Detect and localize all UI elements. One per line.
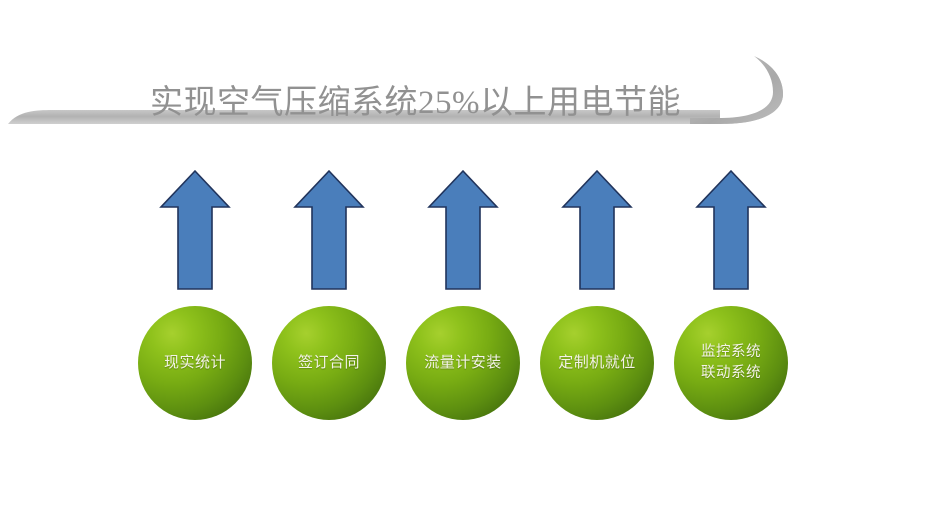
flow-step-1[interactable]: 现实统计 [136, 168, 254, 428]
up-arrow-icon [560, 168, 634, 292]
up-arrow-icon [292, 168, 366, 292]
process-flow: 现实统计 签订合同 流量计安装 [0, 0, 945, 529]
flow-step-4[interactable]: 定制机就位 [538, 168, 656, 428]
step-label-3: 流量计安装 [424, 353, 502, 373]
flow-step-2[interactable]: 签订合同 [270, 168, 388, 428]
step-label-4: 定制机就位 [558, 353, 636, 373]
step-label-2: 签订合同 [298, 353, 360, 373]
up-arrow-icon [426, 168, 500, 292]
flow-step-3[interactable]: 流量计安装 [404, 168, 522, 428]
step-circle-5[interactable]: 监控系统 联动系统 [674, 306, 788, 420]
step-circle-4[interactable]: 定制机就位 [540, 306, 654, 420]
step-label-1: 现实统计 [164, 353, 226, 373]
slide-canvas: 实现空气压缩系统25%以上用电节能 现实统计 签订合同 [0, 0, 945, 529]
step-label-5: 监控系统 联动系统 [701, 342, 761, 384]
up-arrow-icon [694, 168, 768, 292]
up-arrow-icon [158, 168, 232, 292]
step-circle-3[interactable]: 流量计安装 [406, 306, 520, 420]
step-circle-2[interactable]: 签订合同 [272, 306, 386, 420]
step-circle-1[interactable]: 现实统计 [138, 306, 252, 420]
flow-step-5[interactable]: 监控系统 联动系统 [672, 168, 790, 428]
